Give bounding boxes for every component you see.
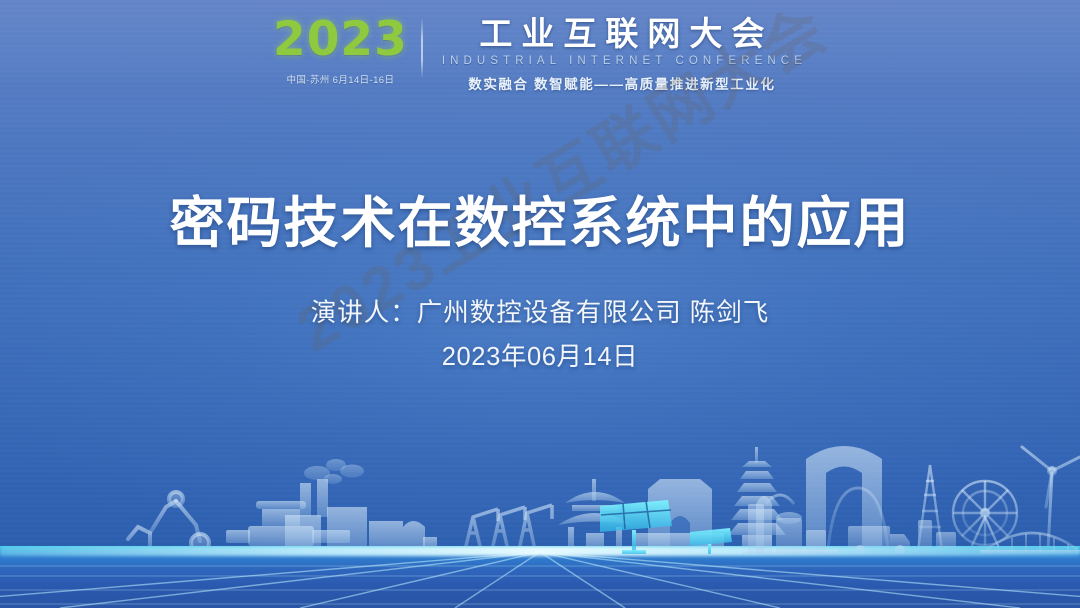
oil-pumpjacks-icon bbox=[465, 505, 552, 550]
skyline-silhouette bbox=[0, 421, 1080, 551]
factory-building-icon bbox=[285, 479, 437, 550]
conference-name-en: INDUSTRIAL INTERNET CONFERENCE bbox=[437, 55, 807, 67]
logo-title-block: 工业互联网大会 INDUSTRIAL INTERNET CONFERENCE 数… bbox=[423, 16, 807, 93]
arch-gateway-icon bbox=[636, 479, 724, 550]
lattice-tower-icon bbox=[914, 453, 946, 550]
chinese-pavilion-icon bbox=[558, 479, 632, 550]
conference-name-cn: 工业互联网大会 bbox=[470, 16, 773, 52]
presenter-line: 演讲人：广州数控设备有限公司 陈剑飞 bbox=[0, 292, 1080, 329]
page-title: 密码技术在数控系统中的应用 bbox=[0, 192, 1080, 256]
gate-of-the-orient-icon bbox=[806, 446, 888, 550]
logo-year: 2023 bbox=[273, 16, 408, 63]
robot-arm-icon bbox=[128, 492, 215, 551]
horizon-glow bbox=[0, 546, 1080, 556]
logo-location-date: 中国·苏州 6月14日-16日 bbox=[286, 72, 394, 86]
logo-year-block: 2023 中国·苏州 6月14日-16日 bbox=[273, 16, 421, 86]
title-block: 密码技术在数控系统中的应用 演讲人：广州数控设备有限公司 陈剑飞 2023年06… bbox=[0, 192, 1080, 373]
ground-perspective-grid bbox=[0, 546, 1080, 608]
conference-logo-lockup: 2023 中国·苏州 6月14日-16日 工业互联网大会 INDUSTRIAL … bbox=[0, 16, 1080, 93]
industrial-valve-icon bbox=[226, 501, 360, 550]
conference-slogan: 数实融合 数智赋能——高质量推进新型工业化 bbox=[468, 73, 775, 93]
smoke-puffs-icon bbox=[304, 459, 364, 484]
ferris-wheel-icon bbox=[953, 481, 1017, 550]
pagoda-tower-icon bbox=[728, 447, 786, 550]
foreground-industry-icons bbox=[0, 474, 1080, 554]
presentation-date: 2023年06月14日 bbox=[0, 336, 1080, 373]
wind-turbine-icon bbox=[1022, 447, 1080, 550]
presentation-slide: 2023 中国·苏州 6月14日-16日 工业互联网大会 INDUSTRIAL … bbox=[0, 0, 1080, 608]
